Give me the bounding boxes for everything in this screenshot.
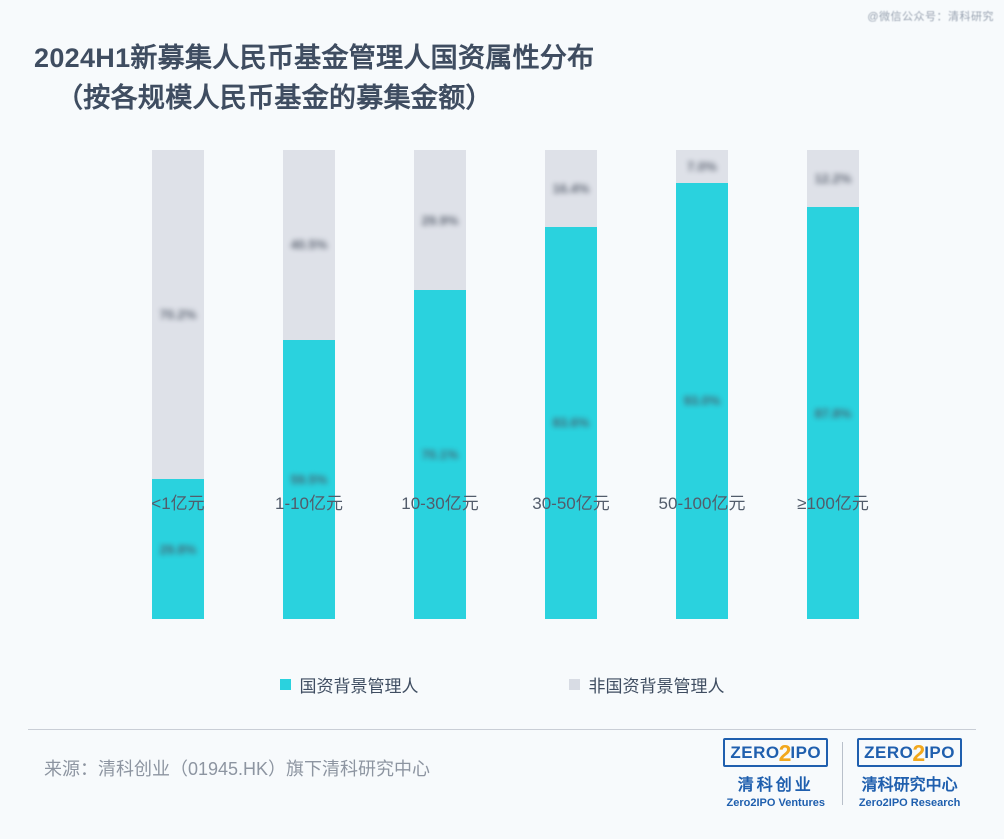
legend-swatch-icon <box>569 679 580 690</box>
bar-stack: 16.4%83.6% <box>545 150 597 619</box>
x-axis-tick-4: 50-100亿元 <box>637 489 767 514</box>
bar-stack: 40.5%59.5% <box>283 150 335 619</box>
chart-plot-area: 70.2%29.8%40.5%59.5%29.9%70.1%16.4%83.6%… <box>130 150 895 619</box>
bar-segment-label-non-soe: 7.0% <box>687 159 717 174</box>
bar-segment-label-non-soe: 12.2% <box>815 171 852 186</box>
logo-zero-text: ZERO <box>864 744 913 761</box>
bar-segment-soe[interactable]: 87.8% <box>807 207 859 619</box>
stacked-bar-chart: 70.2%29.8%40.5%59.5%29.9%70.1%16.4%83.6%… <box>0 140 1004 630</box>
chart-legend: 国资背景管理人非国资背景管理人 <box>0 672 1004 697</box>
bar-segment-label-soe: 83.6% <box>553 415 590 430</box>
legend-label: 国资背景管理人 <box>300 672 419 697</box>
x-axis-tick-labels: <1亿元1-10亿元10-30亿元30-50亿元50-100亿元≥100亿元 <box>130 489 895 525</box>
legend-item-0[interactable]: 国资背景管理人 <box>280 672 419 697</box>
x-axis-tick-3: 30-50亿元 <box>506 489 636 514</box>
bar-stack: 7.0%93.0% <box>676 150 728 619</box>
logo-ipo-text: IPO <box>790 744 821 761</box>
logo-0: ZERO2IPO清科创业Zero2IPO Ventures <box>709 738 842 809</box>
bar-segment-non-soe[interactable]: 7.0% <box>676 150 728 183</box>
bar-group[interactable]: 16.4%83.6% <box>545 150 597 619</box>
bar-group[interactable]: 7.0%93.0% <box>676 150 728 619</box>
bar-group[interactable]: 70.2%29.8% <box>152 150 204 619</box>
page-title: 2024H1新募集人民币基金管理人国资属性分布 （按各规模人民币基金的募集金额） <box>34 38 854 118</box>
bar-group[interactable]: 29.9%70.1% <box>414 150 466 619</box>
brand-logos: ZERO2IPO清科创业Zero2IPO VenturesZERO2IPO清科研… <box>709 738 976 809</box>
bar-stack: 29.9%70.1% <box>414 150 466 619</box>
zero2ipo-logo-icon: ZERO2IPO <box>723 738 828 767</box>
bar-group[interactable]: 40.5%59.5% <box>283 150 335 619</box>
bar-group[interactable]: 12.2%87.8% <box>807 150 859 619</box>
bar-segment-label-soe: 29.8% <box>160 542 197 557</box>
bar-segment-label-soe: 93.0% <box>684 393 721 408</box>
bar-segment-non-soe[interactable]: 70.2% <box>152 150 204 479</box>
bar-segment-label-non-soe: 29.9% <box>422 213 459 228</box>
bar-stack: 70.2%29.8% <box>152 150 204 619</box>
logo-ipo-text: IPO <box>924 744 955 761</box>
logo-english-name: Zero2IPO Research <box>859 797 961 809</box>
bar-segment-label-soe: 87.8% <box>815 406 852 421</box>
legend-swatch-icon <box>280 679 291 690</box>
x-axis-tick-0: <1亿元 <box>113 489 243 514</box>
logo-chinese-name: 清科创业 <box>738 771 814 795</box>
legend-label: 非国资背景管理人 <box>589 672 725 697</box>
bar-segment-non-soe[interactable]: 29.9% <box>414 150 466 290</box>
bar-segment-non-soe[interactable]: 12.2% <box>807 150 859 207</box>
legend-item-1[interactable]: 非国资背景管理人 <box>569 672 725 697</box>
x-axis-tick-5: ≥100亿元 <box>768 489 898 514</box>
bar-segment-soe[interactable]: 59.5% <box>283 340 335 619</box>
zero2ipo-logo-icon: ZERO2IPO <box>857 738 962 767</box>
logo-1: ZERO2IPO清科研究中心Zero2IPO Research <box>843 738 976 809</box>
wechat-watermark: @微信公众号：清科研究 <box>867 8 994 24</box>
source-note: 来源：清科创业（01945.HK）旗下清科研究中心 <box>44 755 430 781</box>
logo-zero-text: ZERO <box>730 744 779 761</box>
page-title-line-1: 2024H1新募集人民币基金管理人国资属性分布 <box>34 38 854 78</box>
bar-segment-label-non-soe: 16.4% <box>553 181 590 196</box>
logo-two-text: 2 <box>912 742 925 765</box>
bar-segment-label-soe: 59.5% <box>291 472 328 487</box>
page-title-line-2: （按各规模人民币基金的募集金额） <box>34 78 854 118</box>
x-axis-tick-2: 10-30亿元 <box>375 489 505 514</box>
logo-chinese-name: 清科研究中心 <box>862 771 958 795</box>
logo-english-name: Zero2IPO Ventures <box>727 797 825 809</box>
bar-segment-label-non-soe: 40.5% <box>291 237 328 252</box>
bar-segment-label-non-soe: 70.2% <box>160 307 197 322</box>
bar-segment-non-soe[interactable]: 16.4% <box>545 150 597 227</box>
bar-segment-soe[interactable]: 70.1% <box>414 290 466 619</box>
logo-two-text: 2 <box>779 742 792 765</box>
footer-divider <box>28 729 976 730</box>
bar-stack: 12.2%87.8% <box>807 150 859 619</box>
bar-segment-soe[interactable]: 93.0% <box>676 183 728 619</box>
x-axis-tick-1: 1-10亿元 <box>244 489 374 514</box>
bar-segment-soe[interactable]: 83.6% <box>545 227 597 619</box>
bar-segment-non-soe[interactable]: 40.5% <box>283 150 335 340</box>
bar-segment-label-soe: 70.1% <box>422 447 459 462</box>
